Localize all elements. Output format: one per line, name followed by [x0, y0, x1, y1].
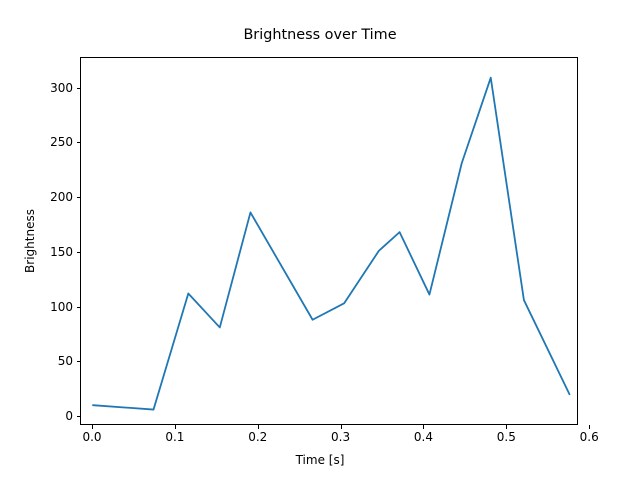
y-tick-mark — [77, 142, 81, 143]
x-tick-label: 0.5 — [497, 430, 516, 444]
x-tick-mark — [341, 425, 342, 429]
x-tick-mark — [175, 425, 176, 429]
plot-axes-area — [80, 57, 578, 425]
y-axis-label: Brightness — [22, 57, 38, 425]
y-tick-mark — [77, 88, 81, 89]
x-tick-mark — [506, 425, 507, 429]
y-tick-label: 50 — [58, 354, 73, 368]
x-tick-label: 0.2 — [248, 430, 267, 444]
data-layer — [81, 58, 577, 424]
x-tick-mark — [258, 425, 259, 429]
x-tick-label: 0.1 — [165, 430, 184, 444]
chart-title: Brightness over Time — [0, 27, 640, 43]
x-tick-label: 0.4 — [414, 430, 433, 444]
x-tick-mark — [589, 425, 590, 429]
y-tick-label: 300 — [50, 81, 73, 95]
y-tick-label: 150 — [50, 245, 73, 259]
y-tick-label: 250 — [50, 135, 73, 149]
series-polyline — [93, 78, 569, 410]
y-tick-mark — [77, 416, 81, 417]
y-tick-label: 0 — [65, 409, 73, 423]
y-tick-mark — [77, 307, 81, 308]
x-tick-mark — [423, 425, 424, 429]
y-tick-mark — [77, 197, 81, 198]
y-tick-mark — [77, 361, 81, 362]
y-tick-label: 200 — [50, 190, 73, 204]
x-axis-label: Time [s] — [0, 453, 640, 467]
x-tick-label: 0.3 — [331, 430, 350, 444]
matplotlib-figure: Brightness over Time 0.00.10.20.30.40.50… — [0, 0, 640, 480]
brightness-line-series — [81, 58, 577, 424]
x-tick-label: 0.6 — [580, 430, 599, 444]
y-tick-label: 100 — [50, 300, 73, 314]
y-tick-mark — [77, 252, 81, 253]
x-tick-label: 0.0 — [82, 430, 101, 444]
x-tick-mark — [92, 425, 93, 429]
